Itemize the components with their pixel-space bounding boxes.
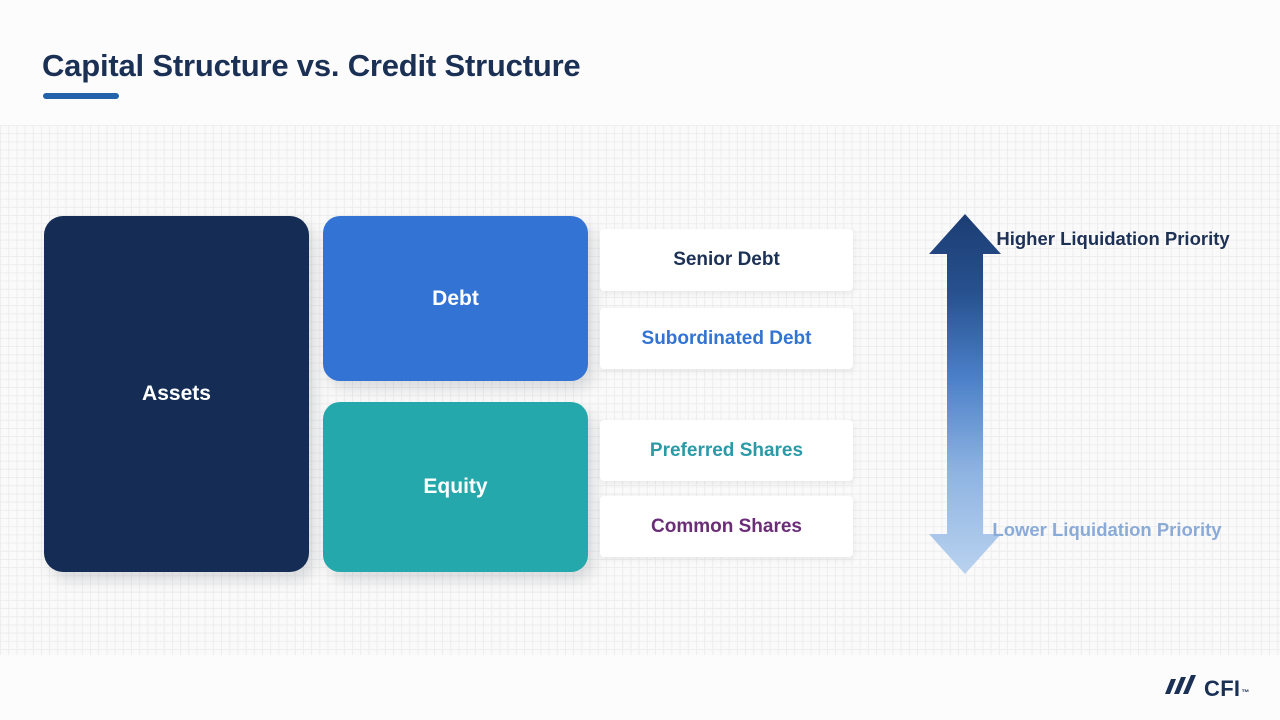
- credit-row-label: Subordinated Debt: [642, 328, 812, 350]
- block-equity-label: Equity: [423, 475, 487, 499]
- slide: Capital Structure vs. Credit Structure A…: [0, 0, 1280, 720]
- block-debt-label: Debt: [432, 287, 479, 311]
- page-title: Capital Structure vs. Credit Structure: [42, 48, 580, 84]
- credit-row-label: Common Shares: [651, 516, 802, 538]
- credit-row-preferred-shares[interactable]: Preferred Shares: [600, 420, 853, 481]
- credit-row-senior-debt[interactable]: Senior Debt: [600, 229, 853, 291]
- cfi-logo: CFI ™: [1158, 672, 1249, 700]
- block-equity[interactable]: Equity: [323, 402, 588, 572]
- block-assets[interactable]: Assets: [44, 216, 309, 572]
- credit-row-subordinated-debt[interactable]: Subordinated Debt: [600, 308, 853, 369]
- credit-row-common-shares[interactable]: Common Shares: [600, 496, 853, 557]
- higher-priority-label: Higher Liquidation Priority: [983, 224, 1243, 255]
- slide-footer: [0, 655, 1280, 720]
- cfi-logo-trademark: ™: [1241, 688, 1249, 697]
- credit-row-label: Preferred Shares: [650, 440, 803, 462]
- slide-header: Capital Structure vs. Credit Structure: [0, 0, 1280, 125]
- title-accent-bar: [43, 93, 119, 99]
- cfi-logo-text: CFI: [1204, 678, 1240, 700]
- block-debt[interactable]: Debt: [323, 216, 588, 381]
- block-assets-label: Assets: [142, 382, 211, 406]
- lower-priority-label: Lower Liquidation Priority: [977, 515, 1237, 546]
- cfi-logo-bars-icon: [1158, 672, 1198, 696]
- credit-row-label: Senior Debt: [673, 249, 780, 271]
